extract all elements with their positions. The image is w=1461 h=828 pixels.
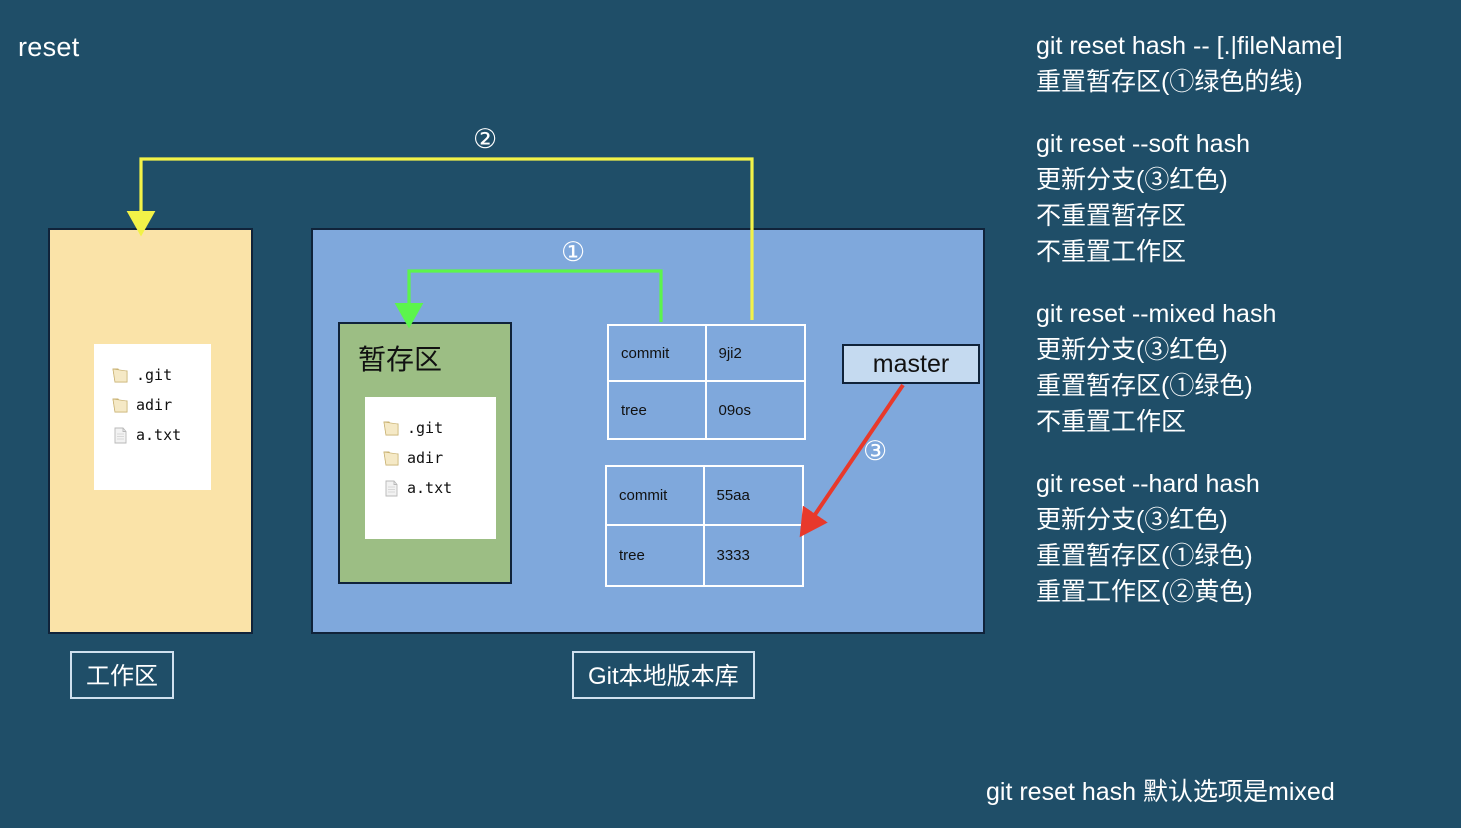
note-line: 不重置暂存区 <box>1036 198 1456 234</box>
file-name: .git <box>136 366 172 384</box>
note-line: git reset --mixed hash <box>1036 296 1456 332</box>
working-area-file-list: .git adir a.txt <box>94 344 211 490</box>
note-line: git reset --hard hash <box>1036 466 1456 502</box>
branch-label-master: master <box>842 344 980 384</box>
table-cell-value: 55aa <box>705 467 803 524</box>
note-line: 重置暂存区(①绿色的线) <box>1036 64 1456 100</box>
folder-icon <box>383 419 400 438</box>
folder-icon <box>112 366 129 385</box>
table-cell-value: 3333 <box>705 526 803 585</box>
note-block-reset-mixed: git reset --mixed hash 更新分支(③红色) 重置暂存区(①… <box>1036 296 1456 440</box>
list-item: a.txt <box>112 420 211 450</box>
note-line: 更新分支(③红色) <box>1036 502 1456 538</box>
table-row: commit 9ji2 <box>609 326 804 382</box>
table-cell-value: 09os <box>707 382 805 438</box>
note-footer-default-option: git reset hash 默认选项是mixed <box>986 772 1335 808</box>
step-marker-two: ② <box>473 126 497 153</box>
table-cell-value: 9ji2 <box>707 326 805 380</box>
note-line: git reset hash -- [.|fileName] <box>1036 28 1456 64</box>
file-name: .git <box>407 419 443 437</box>
file-name: a.txt <box>136 426 181 444</box>
note-line: 重置暂存区(①绿色) <box>1036 538 1456 574</box>
notes-panel: git reset hash -- [.|fileName] 重置暂存区(①绿色… <box>1036 28 1456 636</box>
file-name: a.txt <box>407 479 452 497</box>
table-cell-key: tree <box>609 382 707 438</box>
note-line: git reset --soft hash <box>1036 126 1456 162</box>
commit-object-table: commit 55aa tree 3333 <box>605 465 804 587</box>
staging-area-title: 暂存区 <box>358 338 442 378</box>
working-area-box: .git adir a.txt <box>48 228 253 634</box>
note-line: 不重置工作区 <box>1036 404 1456 440</box>
file-name: adir <box>136 396 172 414</box>
list-item: a.txt <box>383 473 496 503</box>
staging-area-box: 暂存区 .git adir <box>338 322 512 584</box>
working-area-caption: 工作区 <box>70 651 174 699</box>
note-line: 更新分支(③红色) <box>1036 162 1456 198</box>
note-line: 更新分支(③红色) <box>1036 332 1456 368</box>
note-block-reset-hard: git reset --hard hash 更新分支(③红色) 重置暂存区(①绿… <box>1036 466 1456 610</box>
folder-icon <box>112 396 129 415</box>
note-line: 重置工作区(②黄色) <box>1036 574 1456 610</box>
commit-object-table: commit 9ji2 tree 09os <box>607 324 806 440</box>
note-block-reset-soft: git reset --soft hash 更新分支(③红色) 不重置暂存区 不… <box>1036 126 1456 270</box>
list-item: .git <box>112 360 211 390</box>
list-item: adir <box>383 443 496 473</box>
file-name: adir <box>407 449 443 467</box>
list-item: .git <box>383 413 496 443</box>
table-row: tree 3333 <box>607 526 802 585</box>
file-icon <box>112 426 129 445</box>
table-row: tree 09os <box>609 382 804 438</box>
note-block-reset-path: git reset hash -- [.|fileName] 重置暂存区(①绿色… <box>1036 28 1456 100</box>
table-cell-key: tree <box>607 526 705 585</box>
note-line: 重置暂存区(①绿色) <box>1036 368 1456 404</box>
list-item: adir <box>112 390 211 420</box>
repository-area-caption: Git本地版本库 <box>572 651 755 699</box>
note-line: 不重置工作区 <box>1036 234 1456 270</box>
folder-icon <box>383 449 400 468</box>
staging-area-file-list: .git adir a.txt <box>365 397 496 539</box>
table-cell-key: commit <box>609 326 707 380</box>
repository-area-box: 暂存区 .git adir <box>311 228 985 634</box>
step-marker-three: ③ <box>863 438 887 465</box>
page-title: reset <box>18 32 80 63</box>
step-marker-one: ① <box>561 239 585 266</box>
file-icon <box>383 479 400 498</box>
table-row: commit 55aa <box>607 467 802 526</box>
table-cell-key: commit <box>607 467 705 524</box>
